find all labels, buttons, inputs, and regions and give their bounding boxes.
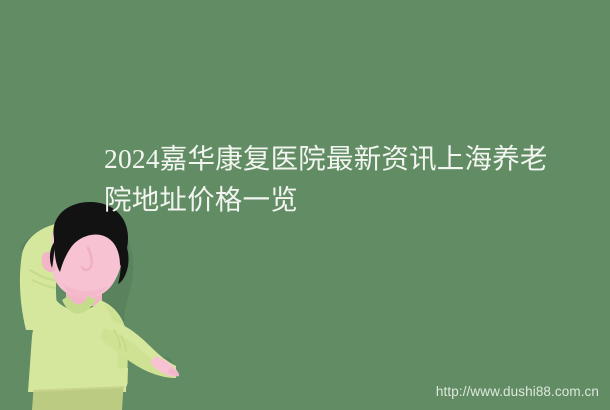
person-illustration [0, 196, 230, 410]
image-canvas: 2024嘉华康复医院最新资讯上海养老院地址价格一览 http://www.dus… [0, 0, 610, 410]
watermark-url: http://www.dushi88.com.cn [436, 384, 599, 399]
page-title: 2024嘉华康复医院最新资讯上海养老院地址价格一览 [104, 138, 556, 220]
